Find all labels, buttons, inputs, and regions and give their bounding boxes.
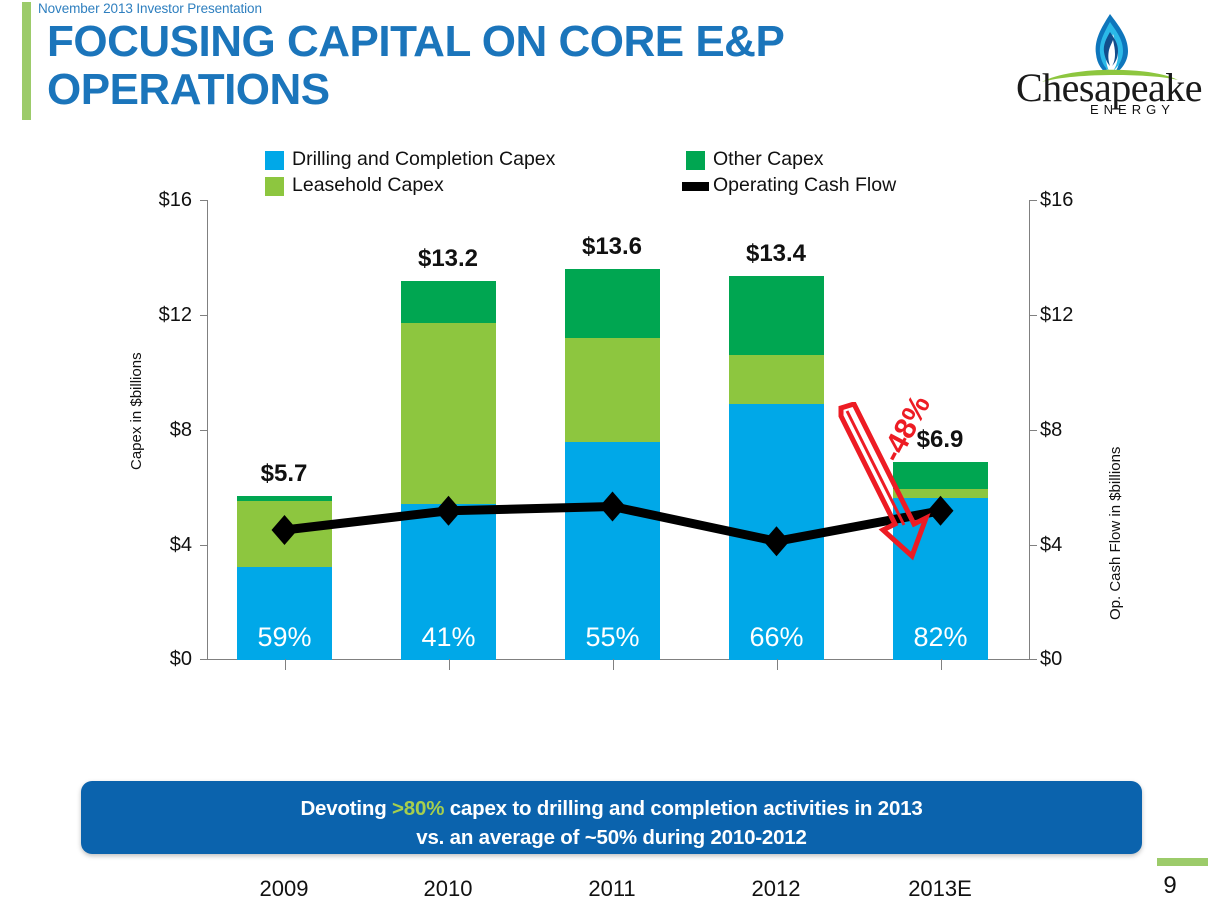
bar-pct-2011: 55% — [565, 622, 660, 653]
y-tick-label-left-16: $16 — [102, 189, 192, 212]
logo-subtext: ENERGY — [1090, 102, 1175, 117]
legend-swatch-drilling — [265, 151, 284, 170]
bar-2010-leasehold — [401, 323, 496, 504]
y-tick-left-16 — [200, 200, 207, 201]
x-tick-label-2010: 2010 — [368, 876, 528, 902]
bar-2009-leasehold — [237, 501, 332, 567]
y-tick-label-left-12: $12 — [102, 304, 192, 327]
y-tick-right-8 — [1030, 430, 1037, 431]
page-number: 9 — [1150, 872, 1190, 900]
bar-2012-other — [729, 276, 824, 355]
callout-box: Devoting >80% capex to drilling and comp… — [81, 781, 1142, 854]
bar-2009-other — [237, 496, 332, 501]
capex-chart: Drilling and Completion Capex Leasehold … — [0, 140, 1218, 720]
y-tick-right-16 — [1030, 200, 1037, 201]
callout-text: Devoting >80% capex to drilling and comp… — [81, 794, 1142, 852]
bar-pct-2012: 66% — [729, 622, 824, 653]
legend-line-operating-cash-flow — [682, 182, 709, 191]
x-tick-label-2009: 2009 — [204, 876, 364, 902]
x-tick-sep-4 — [777, 659, 778, 670]
y-tick-label-left-8: $8 — [102, 419, 192, 442]
x-tick-sep-2 — [449, 659, 450, 670]
bar-2011-other — [565, 269, 660, 338]
y-tick-label-right-4: $4 — [1040, 534, 1110, 557]
chesapeake-energy-logo: Chesapeake ENERGY — [1016, 14, 1206, 120]
x-tick-sep-3 — [613, 659, 614, 670]
y-tick-left-0 — [200, 659, 207, 660]
bar-pct-2013E: 82% — [893, 622, 988, 653]
page-number-accent-bar — [1157, 858, 1208, 866]
y-tick-label-left-4: $4 — [102, 534, 192, 557]
y-tick-right-0 — [1030, 659, 1037, 660]
bar-2012[interactable]: $13.4 66% — [729, 276, 824, 660]
bar-2011[interactable]: $13.6 55% — [565, 269, 660, 660]
y-tick-right-12 — [1030, 315, 1037, 316]
bar-2011-leasehold — [565, 338, 660, 442]
bar-2010[interactable]: $13.2 41% — [401, 281, 496, 660]
bar-2009[interactable]: $5.7 59% — [237, 496, 332, 660]
chart-legend: Drilling and Completion Capex Leasehold … — [265, 148, 965, 198]
y-tick-left-8 — [200, 430, 207, 431]
x-tick-label-2011: 2011 — [532, 876, 692, 902]
bar-pct-2010: 41% — [401, 622, 496, 653]
y-tick-label-right-8: $8 — [1040, 419, 1110, 442]
y-axis-title-left: Capex in $billions — [128, 352, 145, 470]
y-tick-right-4 — [1030, 545, 1037, 546]
presentation-eyebrow: November 2013 Investor Presentation — [38, 1, 262, 16]
y-tick-label-left-0: $0 — [102, 648, 192, 671]
callout-line1-prefix: Devoting — [300, 797, 392, 820]
bar-total-2009: $5.7 — [204, 460, 364, 488]
bar-total-2010: $13.2 — [368, 245, 528, 273]
callout-line2: vs. an average of ~50% during 2010-2012 — [416, 826, 806, 849]
slide-header: November 2013 Investor Presentation FOCU… — [0, 0, 1218, 130]
y-tick-left-12 — [200, 315, 207, 316]
legend-label-other: Other Capex — [713, 148, 824, 171]
bar-total-2011: $13.6 — [532, 233, 692, 261]
x-tick-label-2013E: 2013E — [860, 876, 1020, 902]
y-tick-label-right-0: $0 — [1040, 648, 1110, 671]
title-accent-bar — [22, 2, 31, 120]
legend-label-drilling: Drilling and Completion Capex — [292, 148, 555, 171]
bar-2012-leasehold — [729, 355, 824, 404]
x-tick-label-2012: 2012 — [696, 876, 856, 902]
bar-2010-other — [401, 281, 496, 323]
y-axis-left — [207, 200, 208, 660]
bar-total-2012: $13.4 — [696, 240, 856, 268]
page-title: FOCUSING CAPITAL ON CORE E&P OPERATIONS — [47, 18, 1007, 114]
legend-swatch-leasehold — [265, 177, 284, 196]
y-tick-left-4 — [200, 545, 207, 546]
x-tick-sep-5 — [941, 659, 942, 670]
y-tick-label-right-12: $12 — [1040, 304, 1110, 327]
x-tick-sep-1 — [285, 659, 286, 670]
bar-pct-2009: 59% — [237, 622, 332, 653]
callout-line1-suffix: capex to drilling and completion activit… — [444, 797, 922, 820]
callout-highlight: >80% — [392, 797, 444, 820]
legend-label-leasehold: Leasehold Capex — [292, 174, 444, 197]
legend-label-operating-cash-flow: Operating Cash Flow — [713, 174, 896, 197]
y-tick-label-right-16: $16 — [1040, 189, 1110, 212]
legend-swatch-other — [686, 151, 705, 170]
